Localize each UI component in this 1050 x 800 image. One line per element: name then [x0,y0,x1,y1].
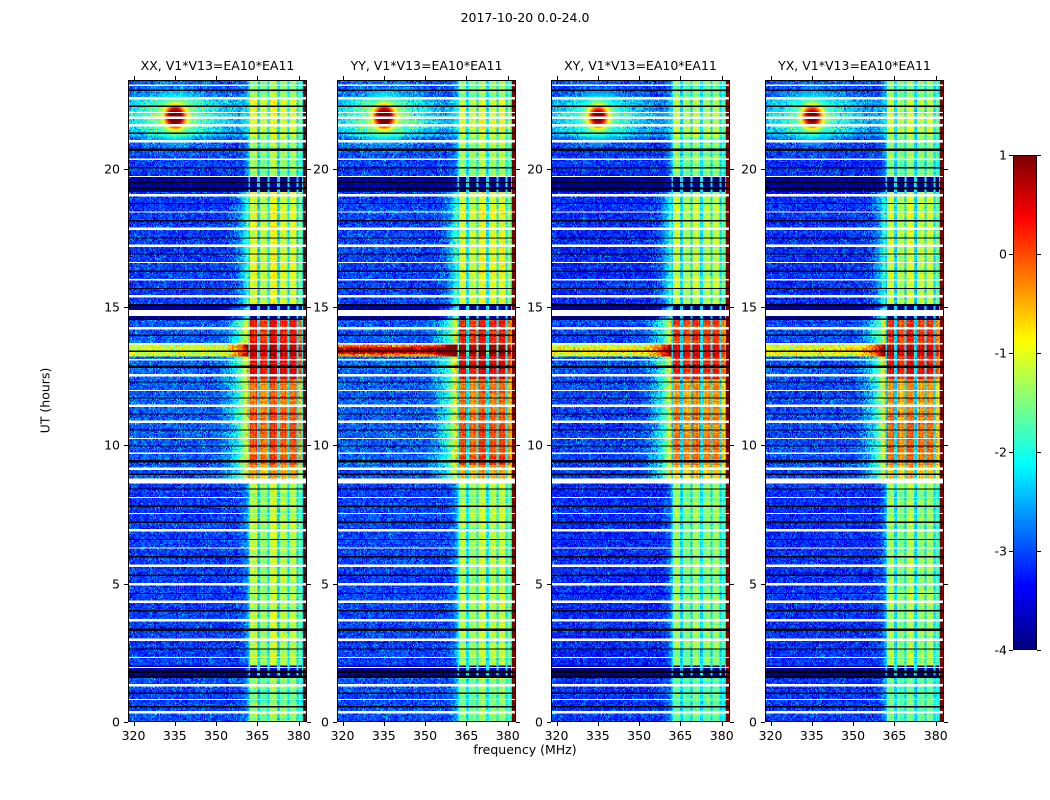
colorbar-tick [1009,551,1013,552]
x-tick [936,722,937,726]
x-tick [466,722,467,726]
x-tick [175,722,176,726]
x-tick-label: 350 [413,728,437,743]
colorbar-tick [1037,254,1041,255]
y-tick-label: 0 [297,715,329,730]
y-tick-label: 10 [725,438,757,453]
x-tick [771,722,772,726]
colorbar-tick-label: -2 [967,445,1007,460]
x-tick [557,722,558,726]
y-tick [944,722,948,723]
panel-yx-title: YX, V1*V13=EA10*EA11 [765,58,944,73]
y-tick [124,307,128,308]
y-tick [333,169,337,170]
x-tick [722,76,723,80]
y-tick-label: 15 [88,299,120,314]
y-tick [333,722,337,723]
x-tick [508,76,509,80]
y-axis-label: UT (hours) [38,301,53,501]
x-tick [812,76,813,80]
y-tick-label: 10 [297,438,329,453]
y-tick [944,169,948,170]
y-tick-label: 10 [88,438,120,453]
colorbar-tick-label: 0 [967,247,1007,262]
x-tick-label: 350 [204,728,228,743]
colorbar-tick-label: 1 [967,148,1007,163]
x-tick [639,722,640,726]
y-tick [333,445,337,446]
colorbar-tick [1009,353,1013,354]
x-tick-label: 335 [800,728,824,743]
x-tick [680,76,681,80]
y-tick-label: 5 [297,576,329,591]
x-tick [894,76,895,80]
colorbar-tick [1009,650,1013,651]
x-tick [557,76,558,80]
y-tick [761,584,765,585]
x-tick [466,76,467,80]
colorbar-tick [1037,452,1041,453]
x-tick [384,722,385,726]
colorbar[interactable]: 10-1-2-3-4 log10 amplitude [1013,155,1037,650]
y-tick [944,307,948,308]
panel-xy-waterfall [552,81,729,721]
y-tick [124,722,128,723]
x-tick [508,722,509,726]
y-tick [333,584,337,585]
x-tick [216,722,217,726]
x-tick-label: 365 [882,728,906,743]
colorbar-tick-label: -4 [967,643,1007,658]
x-tick [680,722,681,726]
x-tick-label: 380 [496,728,520,743]
y-tick [761,169,765,170]
y-tick-label: 5 [511,576,543,591]
x-tick [425,722,426,726]
y-tick [944,445,948,446]
y-tick-label: 5 [88,576,120,591]
panel-yy[interactable]: YY, V1*V13=EA10*EA1132033535036538005101… [337,80,516,722]
y-tick [547,169,551,170]
y-tick-label: 0 [725,715,757,730]
y-tick-label: 5 [725,576,757,591]
x-tick [384,76,385,80]
x-tick-label: 380 [287,728,311,743]
panel-yx[interactable]: YX, V1*V13=EA10*EA1132033535036538005101… [765,80,944,722]
y-tick-label: 0 [511,715,543,730]
y-tick [124,584,128,585]
x-tick [425,76,426,80]
panel-xx-title: XX, V1*V13=EA10*EA11 [128,58,307,73]
panel-yy-waterfall [338,81,515,721]
x-tick [299,76,300,80]
x-tick [134,76,135,80]
panel-yx-axes[interactable] [765,80,944,722]
panel-xx-axes[interactable] [128,80,307,722]
panel-xy-title: XY, V1*V13=EA10*EA11 [551,58,730,73]
x-tick [343,722,344,726]
x-tick-label: 335 [163,728,187,743]
x-tick-label: 320 [759,728,783,743]
x-tick-label: 320 [122,728,146,743]
y-tick-label: 15 [511,299,543,314]
x-tick-label: 350 [627,728,651,743]
y-tick-label: 20 [725,161,757,176]
x-tick [722,722,723,726]
x-tick-label: 380 [710,728,734,743]
x-tick [853,722,854,726]
y-tick [944,584,948,585]
figure-suptitle: 2017-10-20 0.0-24.0 [0,10,1050,25]
y-tick [124,169,128,170]
y-tick-label: 20 [88,161,120,176]
x-tick-label: 380 [924,728,948,743]
y-tick-label: 20 [511,161,543,176]
y-tick-label: 15 [725,299,757,314]
colorbar-tick [1037,155,1041,156]
colorbar-tick [1037,551,1041,552]
x-tick-label: 335 [372,728,396,743]
x-tick-label: 350 [841,728,865,743]
y-tick [761,307,765,308]
y-tick-label: 15 [297,299,329,314]
x-tick [343,76,344,80]
x-tick [639,76,640,80]
x-tick [894,722,895,726]
colorbar-gradient [1013,155,1037,650]
x-tick [257,76,258,80]
y-tick-label: 20 [297,161,329,176]
colorbar-tick [1009,254,1013,255]
y-tick-label: 0 [88,715,120,730]
x-tick [812,722,813,726]
x-tick [134,722,135,726]
y-tick [547,445,551,446]
x-tick [598,722,599,726]
y-tick [547,722,551,723]
panel-xx[interactable]: XX, V1*V13=EA10*EA1132033535036538005101… [128,80,307,722]
x-tick [936,76,937,80]
panel-yy-title: YY, V1*V13=EA10*EA11 [337,58,516,73]
colorbar-tick [1009,452,1013,453]
x-tick-label: 365 [454,728,478,743]
x-tick-label: 365 [668,728,692,743]
y-tick-label: 10 [511,438,543,453]
x-tick [771,76,772,80]
panel-yx-waterfall [766,81,943,721]
x-tick-label: 335 [586,728,610,743]
x-tick [257,722,258,726]
x-tick-label: 320 [331,728,355,743]
colorbar-tick [1037,650,1041,651]
x-tick [598,76,599,80]
x-tick-label: 365 [245,728,269,743]
x-tick-label: 320 [545,728,569,743]
colorbar-tick-label: -1 [967,346,1007,361]
panel-xx-waterfall [129,81,306,721]
colorbar-tick-label: -3 [967,544,1007,559]
colorbar-tick [1009,155,1013,156]
y-tick [124,445,128,446]
y-tick [333,307,337,308]
y-tick [547,307,551,308]
y-tick [761,722,765,723]
y-tick [761,445,765,446]
panel-xy-axes[interactable] [551,80,730,722]
panel-xy[interactable]: XY, V1*V13=EA10*EA1132033535036538005101… [551,80,730,722]
y-tick [547,584,551,585]
x-tick [175,76,176,80]
colorbar-tick [1037,353,1041,354]
x-tick [216,76,217,80]
x-axis-label: frequency (MHz) [0,742,1050,757]
x-tick [853,76,854,80]
panel-yy-axes[interactable] [337,80,516,722]
